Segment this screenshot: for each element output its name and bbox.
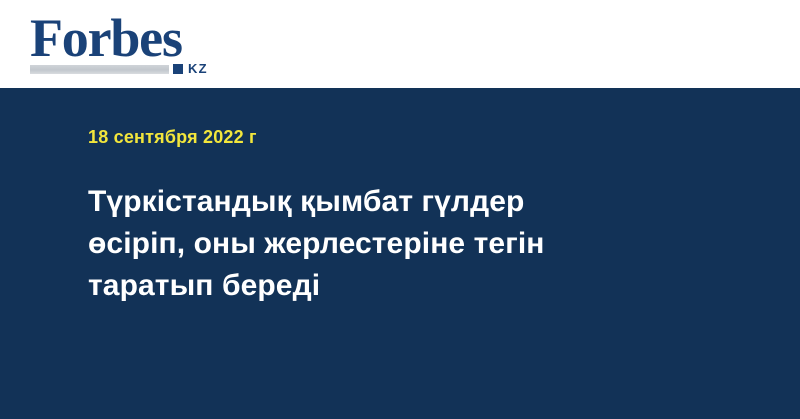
article-card: Forbes KZ 18 сентября 2022 г Түркістанды… <box>0 0 800 419</box>
brand-header: Forbes KZ <box>0 0 800 88</box>
forbes-wordmark: Forbes <box>30 10 182 66</box>
logo-square-icon <box>173 64 183 74</box>
article-body: 18 сентября 2022 г Түркістандық қымбат г… <box>0 88 800 419</box>
article-date: 18 сентября 2022 г <box>88 126 257 148</box>
headline-line-2: өсіріп, оны жерлестеріне тегін <box>88 227 544 260</box>
logo-underline-row: KZ <box>30 62 226 76</box>
logo-kz-label: KZ <box>188 62 208 76</box>
article-headline: Түркістандық қымбат гүлдер өсіріп, оны ж… <box>88 181 658 307</box>
logo-gray-bar <box>30 65 169 74</box>
headline-line-1: Түркістандық қымбат гүлдер <box>88 185 524 218</box>
forbes-kz-logo[interactable]: Forbes KZ <box>30 10 230 80</box>
headline-line-3: таратып береді <box>88 269 320 302</box>
